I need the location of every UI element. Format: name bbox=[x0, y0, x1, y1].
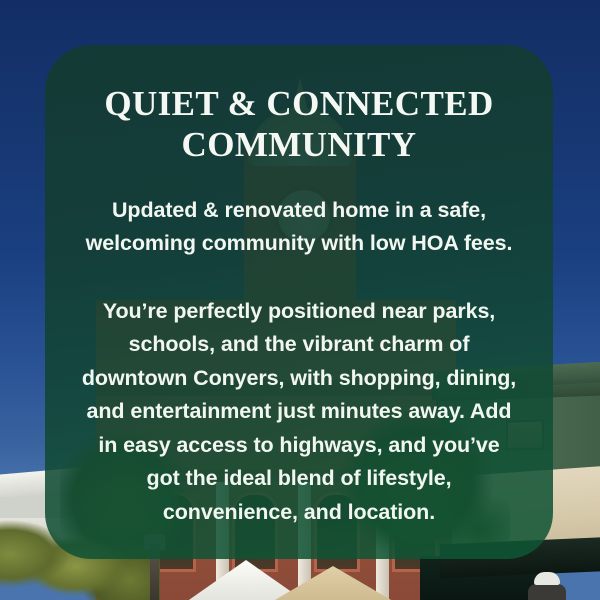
body-paragraph-1: Updated & renovated home in a safe, welc… bbox=[75, 194, 523, 261]
content-card: Quiet & Connected Community Updated & re… bbox=[45, 45, 553, 559]
page-title: Quiet & Connected Community bbox=[75, 83, 523, 166]
person-silhouette bbox=[528, 584, 566, 600]
body-paragraph-2: You’re perfectly positioned near parks, … bbox=[75, 295, 523, 530]
screenshot-root: Quiet & Connected Community Updated & re… bbox=[0, 0, 600, 600]
person-white-cap bbox=[534, 572, 560, 585]
